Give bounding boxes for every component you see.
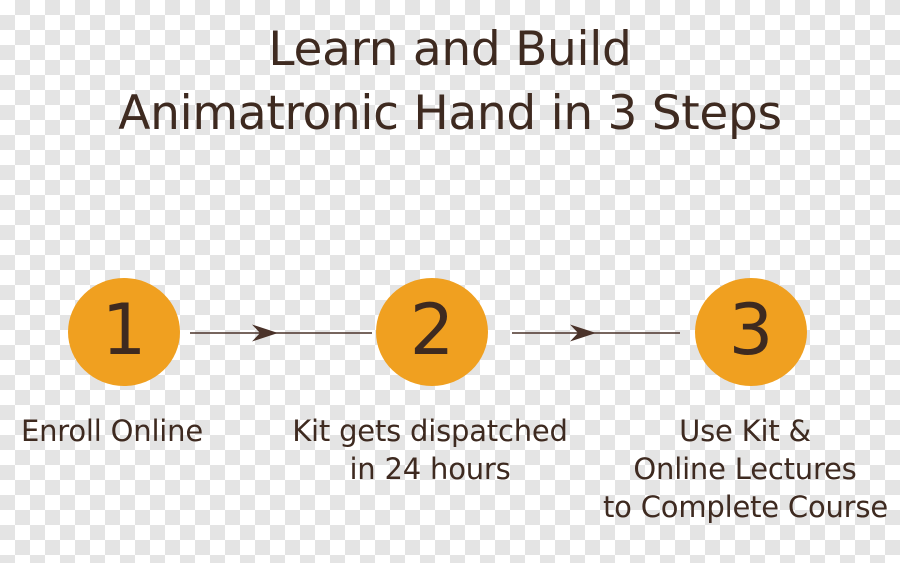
step-caption-3-line-2: Online Lectures (603, 450, 887, 488)
step-caption-2: Kit gets dispatched in 24 hours (292, 412, 568, 488)
step-circle-2: 2 (376, 278, 488, 386)
step-number-1: 1 (102, 295, 147, 365)
step-circle-3: 3 (695, 278, 807, 386)
title-line-2: Animatronic Hand in 3 Steps (0, 82, 900, 146)
step-caption-3-line-1: Use Kit & (603, 412, 887, 450)
step-caption-2-line-2: in 24 hours (292, 450, 568, 488)
step-caption-1: Enroll Online (0, 412, 224, 450)
steps-row: 1 2 3 (0, 278, 900, 386)
step-caption-2-line-1: Kit gets dispatched (292, 412, 568, 450)
step-caption-1-line-1: Enroll Online (0, 412, 224, 450)
step-number-3: 3 (729, 295, 774, 365)
step-caption-3-line-3: to Complete Course (603, 488, 887, 526)
page-title: Learn and Build Animatronic Hand in 3 St… (0, 18, 900, 146)
infographic-canvas: Learn and Build Animatronic Hand in 3 St… (0, 0, 900, 563)
arrow-2-to-3-icon (512, 323, 680, 343)
step-number-2: 2 (410, 295, 455, 365)
step-caption-3: Use Kit & Online Lectures to Complete Co… (603, 412, 887, 526)
step-circle-1: 1 (68, 278, 180, 386)
title-line-1: Learn and Build (0, 18, 900, 82)
arrow-1-to-2-icon (190, 323, 372, 343)
